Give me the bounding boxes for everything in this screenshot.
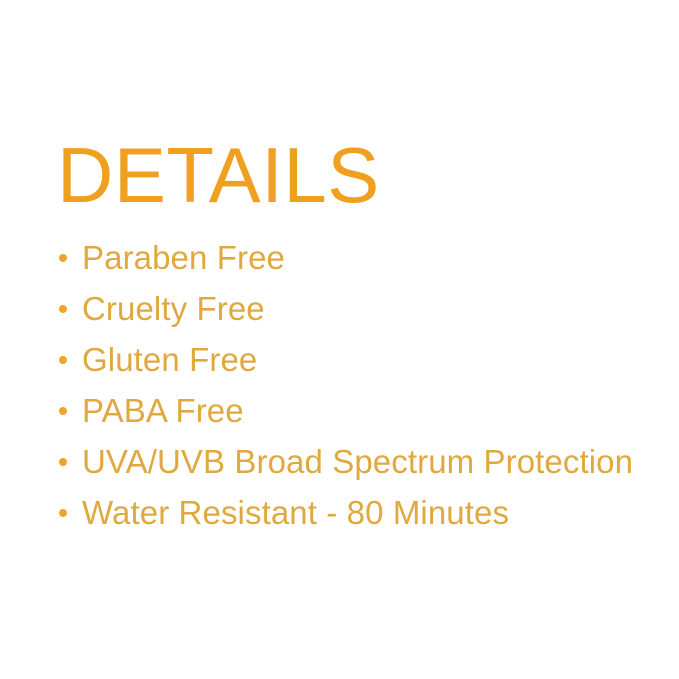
list-item: Paraben Free [57, 232, 657, 283]
list-item: Gluten Free [57, 334, 657, 385]
page-title: DETAILS [57, 132, 380, 218]
details-panel: DETAILS Paraben Free Cruelty Free Gluten… [0, 0, 679, 679]
list-item-label: Gluten Free [82, 341, 257, 378]
list-item-label: PABA Free [82, 392, 244, 429]
bullet-dot-icon [59, 509, 67, 517]
list-item: Water Resistant - 80 Minutes [57, 487, 657, 538]
bullet-dot-icon [59, 305, 67, 313]
list-item-label: Cruelty Free [82, 290, 265, 327]
list-item-label: Paraben Free [82, 239, 285, 276]
bullet-dot-icon [59, 254, 67, 262]
details-feature-list: Paraben Free Cruelty Free Gluten Free PA… [57, 232, 657, 538]
bullet-dot-icon [59, 407, 67, 415]
bullet-dot-icon [59, 458, 67, 466]
list-item: UVA/UVB Broad Spectrum Protection [57, 436, 657, 487]
list-item: Cruelty Free [57, 283, 657, 334]
bullet-dot-icon [59, 356, 67, 364]
list-item: PABA Free [57, 385, 657, 436]
list-item-label: UVA/UVB Broad Spectrum Protection [82, 443, 633, 480]
list-item-label: Water Resistant - 80 Minutes [82, 494, 509, 531]
